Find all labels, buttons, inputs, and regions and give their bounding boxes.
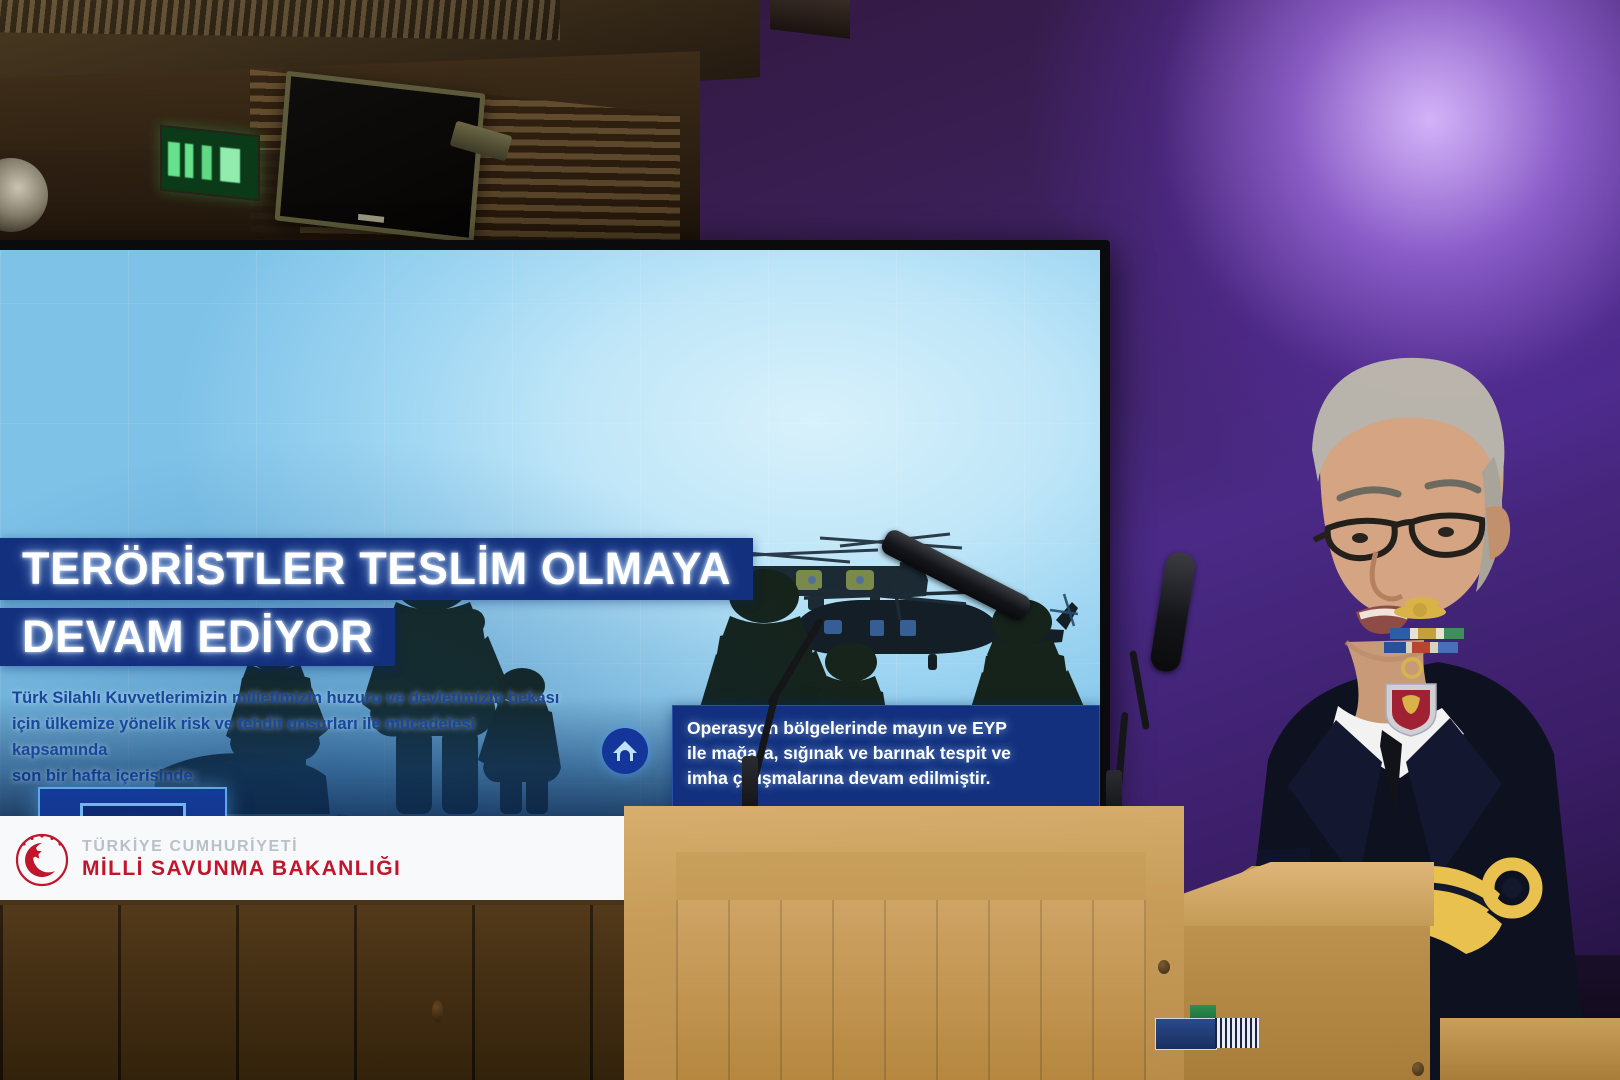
slide-headline-line2: DEVAM EDİYOR xyxy=(0,608,395,666)
podium-knob xyxy=(1158,960,1170,974)
slide-headline-line1: TERÖRİSTLER TESLİM OLMAYA xyxy=(0,538,753,600)
paragraph-line-3: son bir hafta içerisinde; xyxy=(12,767,198,785)
ribbon-bars xyxy=(1384,628,1464,653)
ministry-logo xyxy=(14,831,70,889)
wall-speaker xyxy=(275,71,486,244)
exit-sign-glyphs xyxy=(168,142,252,185)
eye-right xyxy=(1438,527,1454,537)
podium-top-surface xyxy=(624,806,1184,852)
callout-line1: Operasyon bölgelerinde mayın ve EYP xyxy=(687,716,1087,741)
mic-base-left xyxy=(742,756,758,812)
door-knob xyxy=(432,1000,443,1022)
screenshot-root: TERÖRİSTLER TESLİM OLMAYA DEVAM EDİYOR T… xyxy=(0,0,1620,1080)
exit-sign xyxy=(160,125,260,202)
podium-wood-paneling xyxy=(676,900,1146,1080)
paragraph-line-1: Türk Silahlı Kuvvetlerimizin milletimizi… xyxy=(12,685,568,711)
footer-line1: TÜRKİYE CUMHURİYETİ xyxy=(82,838,401,857)
footer-line2: MİLLİ SAVUNMA BAKANLIĞI xyxy=(82,857,401,882)
ceiling-slats xyxy=(0,0,560,40)
slide-paragraph: Türk Silahlı Kuvvetlerimizin milletimizi… xyxy=(12,685,568,789)
ear xyxy=(1486,506,1510,560)
shelf-item-blue xyxy=(1155,1018,1217,1050)
podium-lower-shelf xyxy=(1440,1018,1620,1080)
shelf-item-barcode xyxy=(1215,1018,1259,1048)
podium-knob xyxy=(1412,1062,1424,1076)
paragraph-line-2: için ülkemize yönelik risk ve tehdit uns… xyxy=(12,711,568,763)
slide-callout: Operasyon bölgelerinde mayın ve EYP ile … xyxy=(672,705,1100,815)
eye-left xyxy=(1352,533,1368,543)
footer-text: TÜRKİYE CUMHURİYETİ MİLLİ SAVUNMA BAKANL… xyxy=(82,838,401,882)
speaker-led xyxy=(358,214,384,223)
cave-shelter-icon xyxy=(602,728,648,774)
